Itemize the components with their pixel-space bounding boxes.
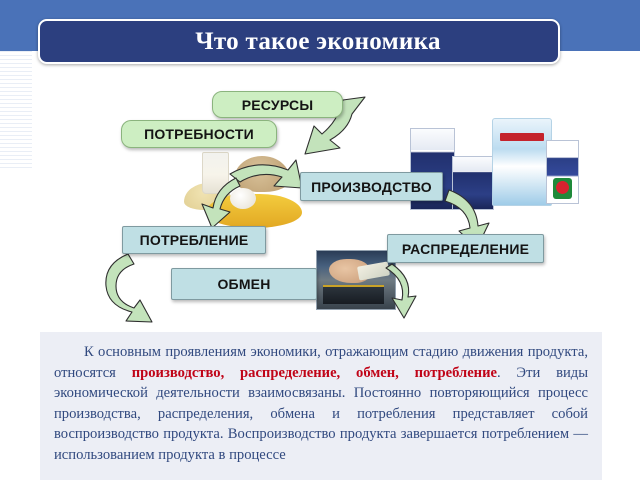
node-potreblenie[interactable]: ПОТРЕБЛЕНИЕ [122, 226, 266, 254]
node-label: ПОТРЕБЛЕНИЕ [140, 232, 249, 248]
node-label: РЕСУРСЫ [242, 97, 314, 113]
milk-carton-small [452, 156, 494, 210]
economic-cycle-diagram: РЕСУРСЫ ПОТРЕБНОСТИ ПРОИЗВОДСТВО РАСПРЕД… [0, 78, 640, 328]
cash-register-drawer [323, 285, 384, 304]
egg-shape [230, 188, 256, 209]
milk-bag [492, 118, 552, 206]
photo-food-products [178, 150, 310, 232]
node-label: ПРОИЗВОДСТВО [311, 179, 432, 195]
bread-shape [234, 156, 290, 192]
carton-cap [453, 157, 493, 171]
body-paragraph: К основным проявлениям экономики, отража… [54, 342, 588, 466]
node-label: ОБМЕН [217, 276, 270, 292]
carton-cap [411, 129, 454, 150]
photo-cashier [316, 250, 396, 310]
slide: Что такое экономика [0, 0, 640, 480]
juice-carton [546, 140, 579, 204]
node-obmen[interactable]: ОБМЕН [171, 268, 317, 300]
slide-title-bar: Что такое экономика [38, 19, 560, 64]
node-label: ПОТРЕБНОСТИ [144, 126, 254, 142]
page-title: Что такое экономика [157, 28, 441, 56]
node-proizvodstvo[interactable]: ПРОИЗВОДСТВО [300, 172, 443, 201]
node-resursy[interactable]: РЕСУРСЫ [212, 91, 343, 118]
berry-graphic [553, 178, 573, 199]
node-label: РАСПРЕДЕЛЕНИЕ [402, 241, 529, 257]
bag-label [500, 133, 544, 142]
highlighted-terms: производство, распределение, обмен, потр… [132, 365, 497, 381]
milk-glass-shape [202, 152, 229, 194]
body-text-panel: К основным проявлениям экономики, отража… [40, 332, 602, 480]
node-potrebnosti[interactable]: ПОТРЕБНОСТИ [121, 120, 277, 148]
node-raspredelenie[interactable]: РАСПРЕДЕЛЕНИЕ [387, 234, 544, 263]
